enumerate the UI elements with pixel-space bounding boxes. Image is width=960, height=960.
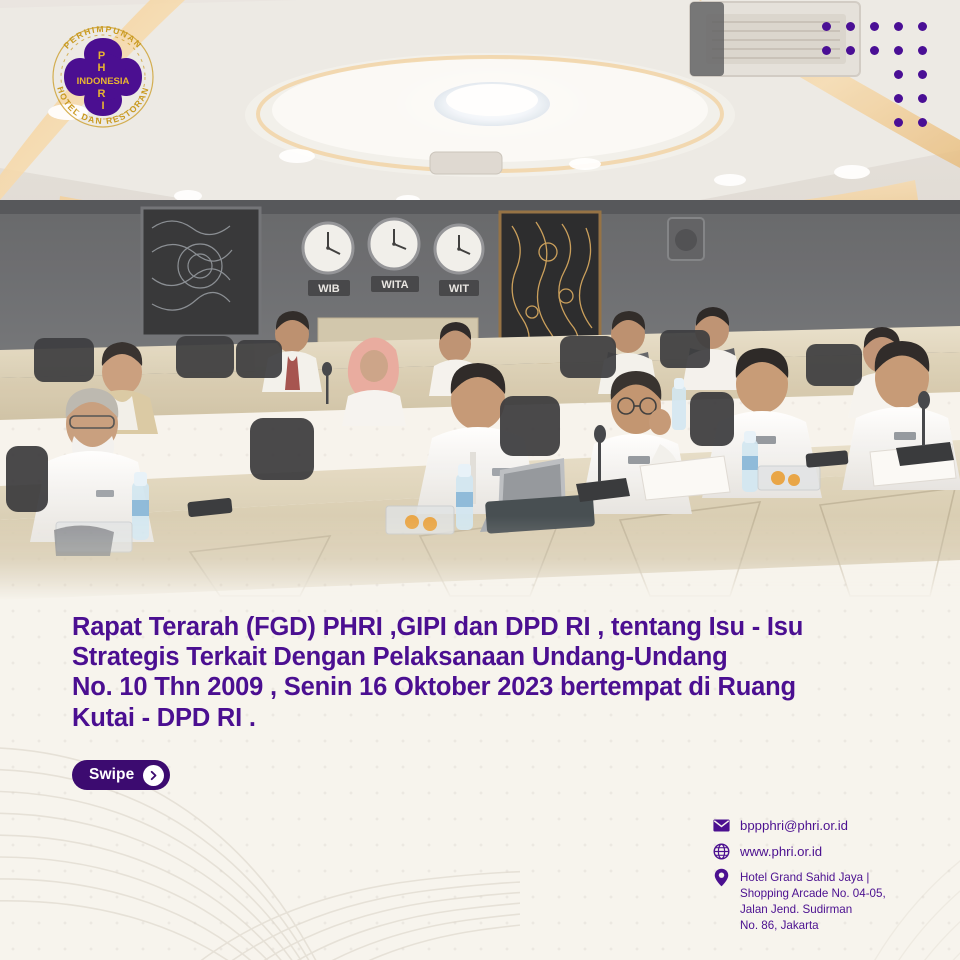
decorative-dot bbox=[918, 118, 927, 127]
decorative-dot bbox=[894, 94, 903, 103]
decorative-dot bbox=[918, 94, 927, 103]
decorative-dot bbox=[870, 22, 879, 31]
contact-address-row: Hotel Grand Sahid Jaya | Shopping Arcade… bbox=[712, 868, 938, 934]
chevron-right-icon bbox=[143, 765, 164, 786]
logo-letter-i: I bbox=[101, 100, 104, 112]
phri-logo: P H R I INDONESIA PERHIMPUNAN HOTEL DAN … bbox=[44, 18, 162, 136]
contact-email-text: bppphri@phri.or.id bbox=[740, 816, 848, 835]
logo-letter-h: H bbox=[97, 62, 105, 74]
location-pin-icon bbox=[712, 868, 731, 887]
decorative-dot-grid bbox=[822, 22, 942, 142]
social-media-card: WIB WITA WIT bbox=[0, 0, 960, 960]
contact-website-text: www.phri.or.id bbox=[740, 842, 822, 861]
decorative-dot bbox=[918, 70, 927, 79]
phri-logo-svg: P H R I INDONESIA PERHIMPUNAN HOTEL DAN … bbox=[44, 18, 162, 136]
decorative-dot bbox=[894, 46, 903, 55]
decorative-dot bbox=[846, 46, 855, 55]
swipe-button-label: Swipe bbox=[89, 766, 134, 784]
decorative-dot bbox=[822, 22, 831, 31]
contact-website-row[interactable]: www.phri.or.id bbox=[712, 842, 938, 861]
decorative-dot bbox=[894, 22, 903, 31]
contact-email-row[interactable]: bppphri@phri.or.id bbox=[712, 816, 938, 835]
logo-letter-r: R bbox=[97, 88, 105, 100]
decorative-dot bbox=[918, 22, 927, 31]
decorative-dot bbox=[918, 46, 927, 55]
swipe-button[interactable]: Swipe bbox=[72, 760, 170, 790]
decorative-dot bbox=[870, 46, 879, 55]
decorative-dot bbox=[822, 46, 831, 55]
globe-icon bbox=[712, 842, 731, 861]
contact-address-text: Hotel Grand Sahid Jaya | Shopping Arcade… bbox=[740, 868, 886, 934]
decorative-dot bbox=[894, 70, 903, 79]
envelope-icon bbox=[712, 816, 731, 835]
logo-letter-p: P bbox=[98, 50, 105, 62]
decorative-dot bbox=[846, 22, 855, 31]
contact-block: bppphri@phri.or.id www.phri.or.id bbox=[712, 816, 938, 934]
decorative-dot bbox=[894, 118, 903, 127]
page-title: Rapat Terarah (FGD) PHRI ,GIPI dan DPD R… bbox=[72, 612, 902, 733]
logo-indonesia-label: INDONESIA bbox=[77, 76, 130, 87]
